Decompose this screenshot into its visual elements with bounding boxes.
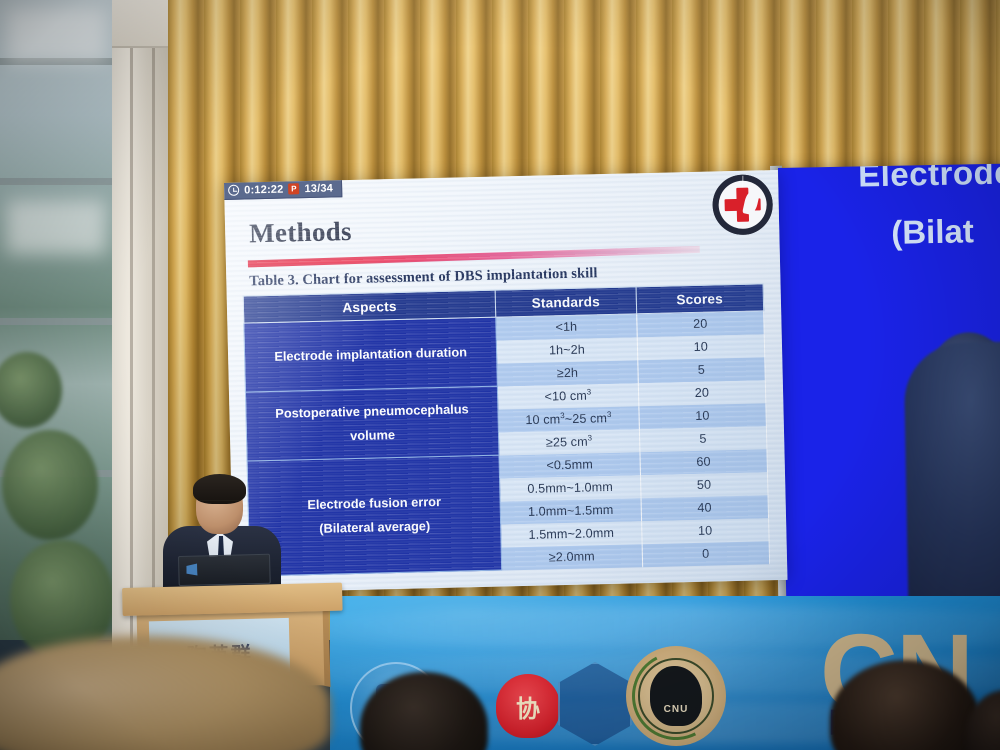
standard-cell: ≥25 cm3 xyxy=(499,429,640,455)
clock-icon xyxy=(228,185,239,196)
assessment-table: Aspects Standards Scores Electrode impla… xyxy=(243,283,770,576)
score-cell: 20 xyxy=(636,311,764,337)
slide-title: Methods xyxy=(249,216,352,249)
column-header-standards: Standards xyxy=(495,287,636,317)
score-cell: 40 xyxy=(641,495,769,521)
cnu-label: CNU xyxy=(626,704,726,715)
secondary-screen-line1: Electrode xyxy=(858,164,1000,195)
score-cell: 10 xyxy=(641,518,769,544)
timer-value: 0:12:22 xyxy=(244,183,284,196)
column-header-scores: Scores xyxy=(636,284,764,314)
standard-cell: <0.5mm xyxy=(499,452,640,478)
cnu-circular-logo-icon: CNU xyxy=(626,646,726,746)
glasses-icon xyxy=(199,500,240,509)
table-caption: Table 3. Chart for assessment of DBS imp… xyxy=(249,265,598,290)
banner-red-logo-icon: 协 xyxy=(496,674,560,738)
secondary-projection-screen: Electrode (Bilat xyxy=(778,164,1000,623)
score-cell: 5 xyxy=(637,357,765,383)
standard-cell: 1.0mm~1.5mm xyxy=(500,498,641,524)
aspect-line2: (Bilateral average) xyxy=(253,513,497,542)
score-cell: 5 xyxy=(639,426,767,452)
score-cell: 0 xyxy=(642,541,770,567)
standard-cell: 10 cm3~25 cm3 xyxy=(498,406,639,432)
aspect-cell: Postoperative pneumocephalus volume xyxy=(245,386,499,461)
window-mullion xyxy=(0,178,118,185)
standard-cell: 0.5mm~1.0mm xyxy=(500,475,641,501)
secondary-screen-line2: (Bilat xyxy=(891,212,974,252)
red-logo-glyph: 协 xyxy=(513,689,543,721)
conference-room-photo: Electrode (Bilat 0:12:22 P 13/34 Methods xyxy=(0,0,1000,750)
standard-cell: ≥2.0mm xyxy=(501,544,642,570)
standard-cell: ≥2h xyxy=(497,360,638,386)
presenter-laptop xyxy=(178,554,271,592)
main-projection-screen: 0:12:22 P 13/34 Methods Table 3. Chart f… xyxy=(224,170,788,593)
hospital-logo-icon xyxy=(712,174,773,235)
score-cell: 60 xyxy=(640,449,768,475)
title-divider xyxy=(248,246,700,268)
score-cell: 50 xyxy=(640,472,768,498)
slide-counter: 13/34 xyxy=(304,182,333,195)
slides-icon: P xyxy=(288,183,299,194)
score-cell: 20 xyxy=(638,380,766,406)
standard-cell: 1h~2h xyxy=(496,337,637,363)
score-cell: 10 xyxy=(637,334,765,360)
standard-cell: 1.5mm~2.0mm xyxy=(501,521,642,547)
screen-person-body xyxy=(903,340,1000,623)
presentation-slide: 0:12:22 P 13/34 Methods Table 3. Chart f… xyxy=(224,170,788,593)
window-mullion xyxy=(0,318,118,325)
foliage xyxy=(2,430,98,540)
standard-cell: <1h xyxy=(496,314,637,340)
window-glare xyxy=(6,200,106,254)
aspect-cell: Electrode implantation duration xyxy=(244,317,498,392)
standard-cell: <10 cm3 xyxy=(498,383,639,409)
structural-column xyxy=(112,0,170,660)
aspect-cell: Electrode fusion error (Bilateral averag… xyxy=(247,455,502,576)
score-cell: 10 xyxy=(638,403,766,429)
window-glare xyxy=(6,8,106,62)
